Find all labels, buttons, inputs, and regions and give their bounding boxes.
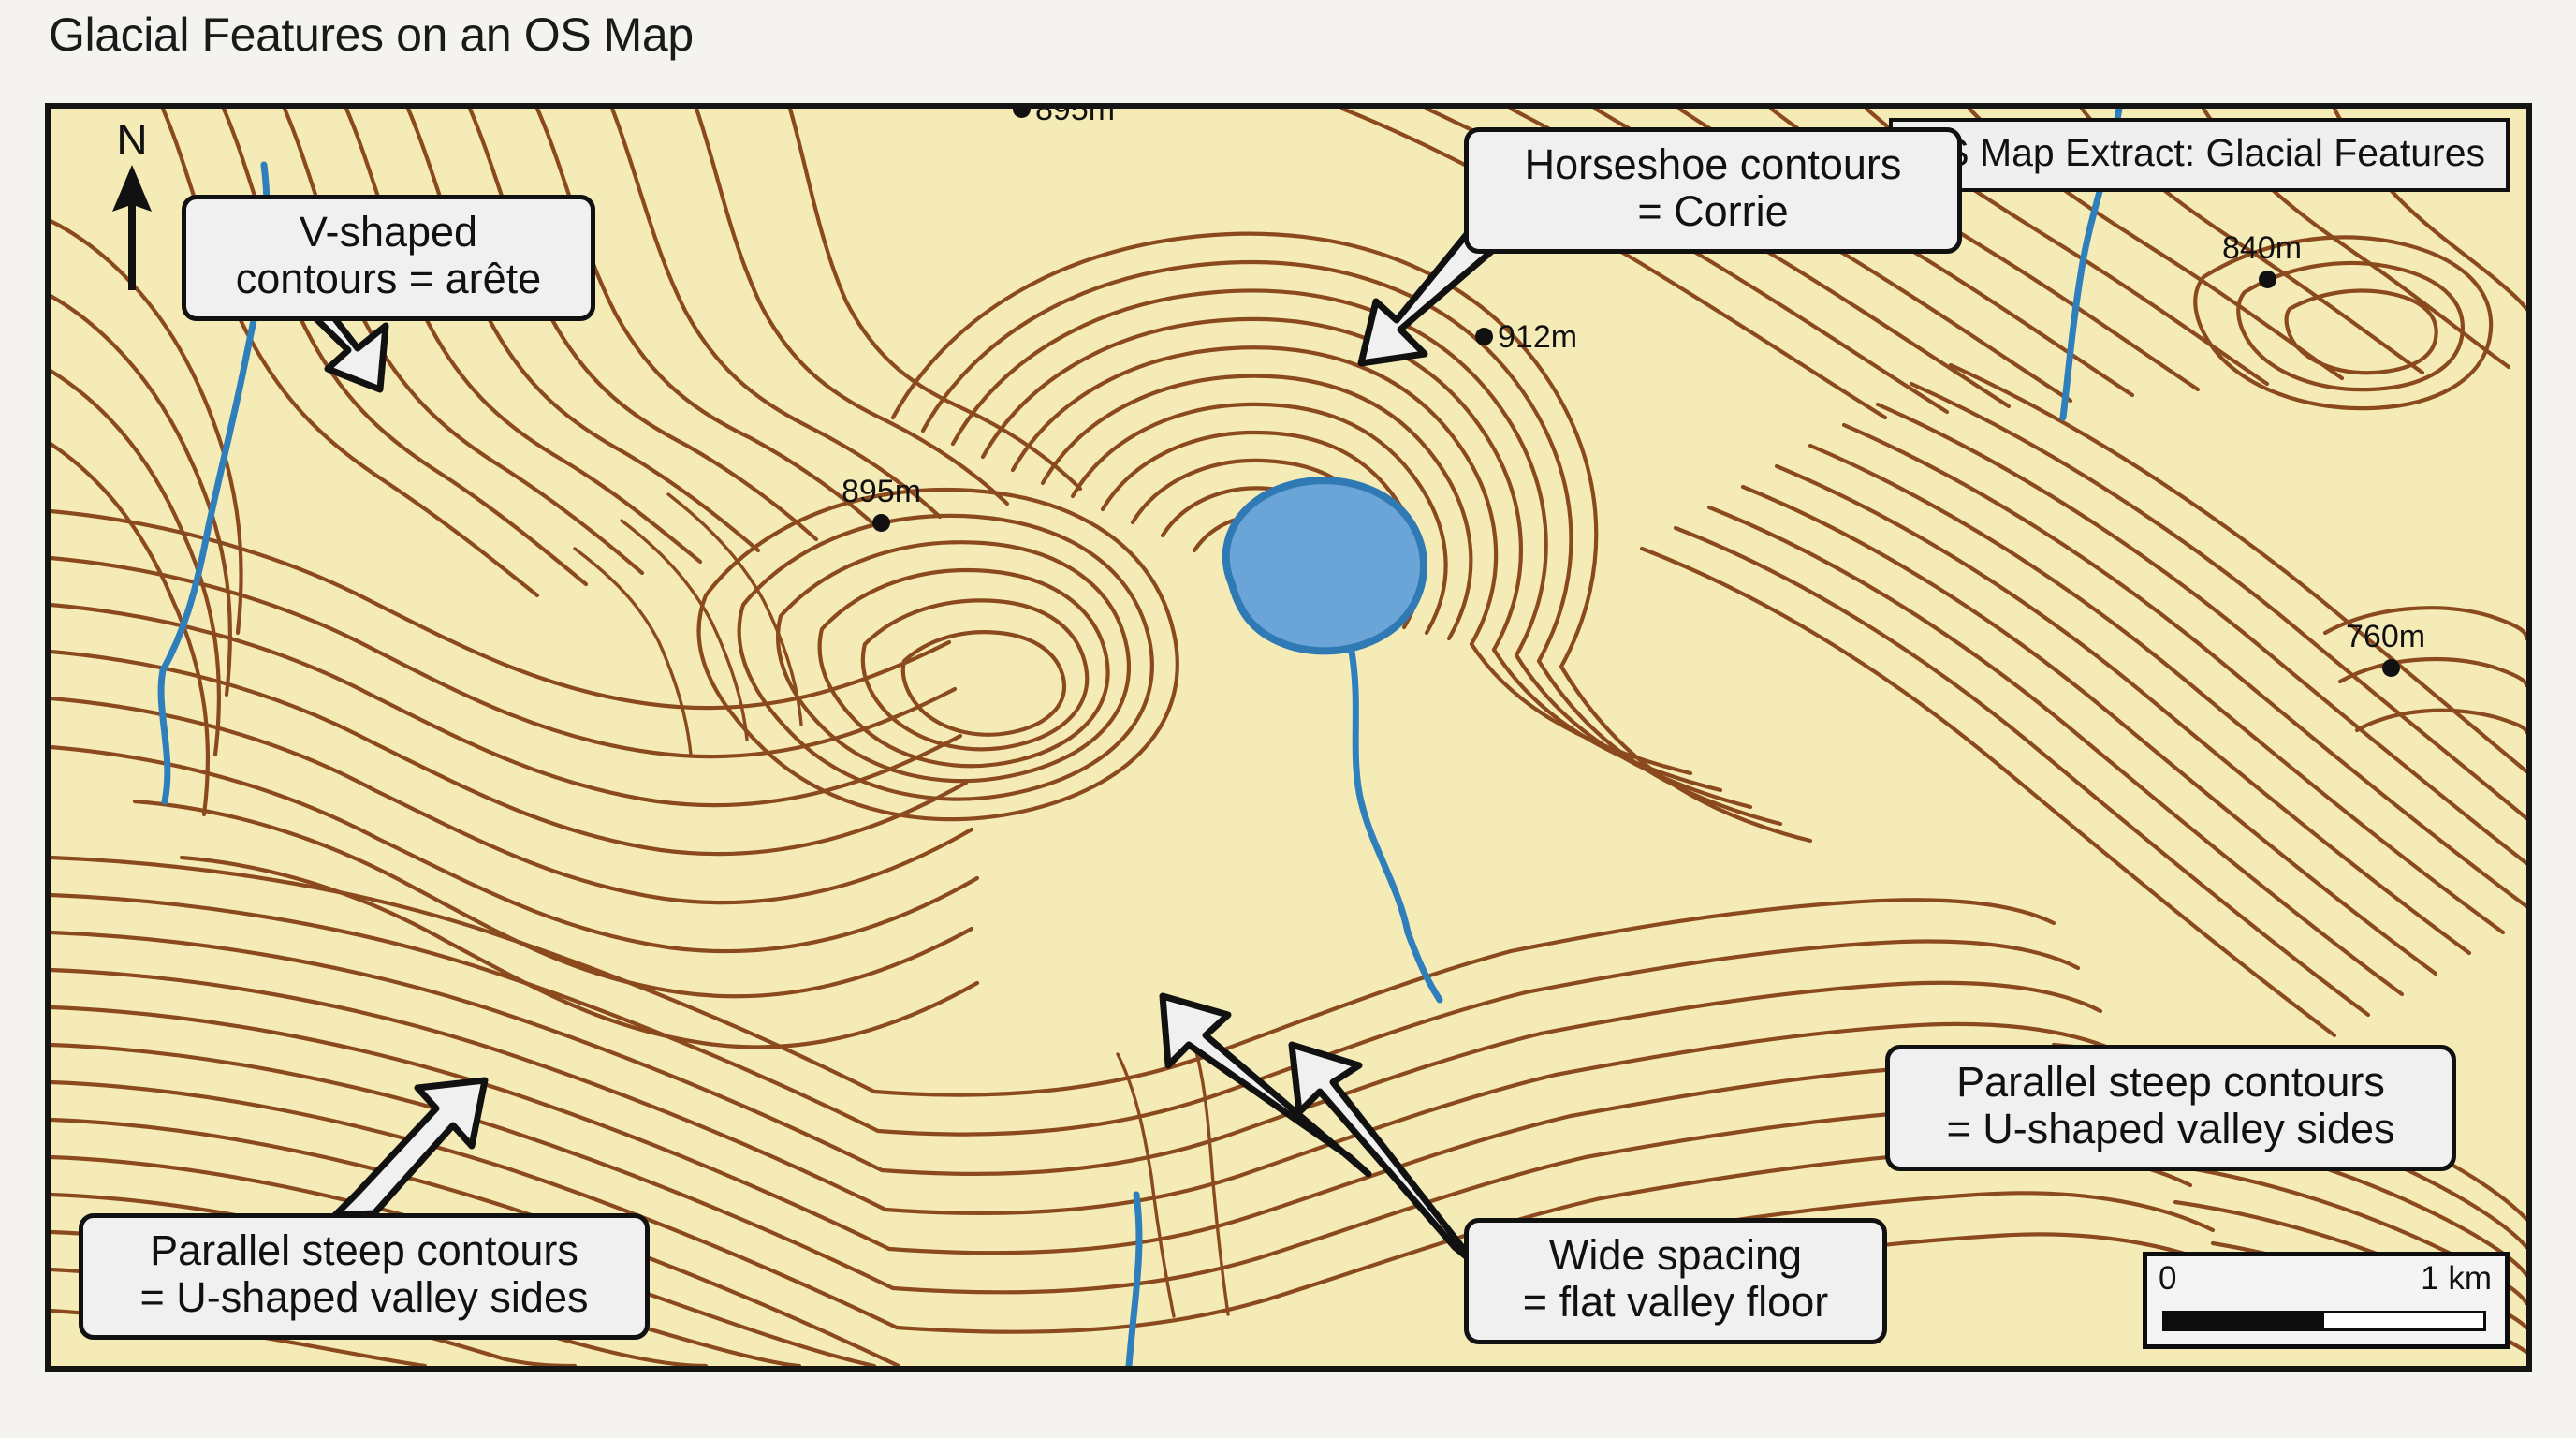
spot-height-dot	[1013, 103, 1031, 118]
contour-group-east-valley-side	[1642, 365, 2526, 1352]
north-arrow-icon: N	[99, 116, 165, 294]
callout-arete[interactable]: V-shaped contours = arête	[182, 195, 595, 321]
spot-height-label: 912m	[1498, 319, 1577, 355]
scale-bar: 0 1 km	[2143, 1252, 2510, 1349]
callout-valley-floor[interactable]: Wide spacing = flat valley floor	[1464, 1218, 1887, 1344]
north-label: N	[99, 116, 165, 163]
scale-bar-track	[2162, 1311, 2486, 1331]
scale-bar-segment-empty	[2324, 1313, 2483, 1328]
corrie-tarn	[1226, 480, 1424, 651]
spot-height-dot	[2382, 659, 2400, 677]
map-legend-title: OS Map Extract: Glacial Features	[1889, 118, 2510, 192]
spot-height-label: 840m	[2222, 230, 2302, 266]
spot-height-760: 760m	[2346, 619, 2425, 677]
scale-max-label: 1 km	[2421, 1260, 2492, 1298]
spot-height-dot	[872, 514, 890, 532]
contour-group-central-hill	[699, 490, 1178, 819]
spot-height-912: 912m	[1475, 319, 1577, 356]
callout-u-valley-right[interactable]: Parallel steep contours = U-shaped valle…	[1885, 1045, 2456, 1171]
spot-height-895-north: 895m	[1013, 103, 1115, 128]
spot-height-895-central: 895m	[842, 474, 921, 532]
scale-bar-segment-filled	[2165, 1313, 2324, 1328]
spot-height-dot	[2259, 271, 2276, 288]
spot-height-dot	[1475, 328, 1493, 345]
spot-height-label: 895m	[1035, 103, 1115, 127]
callout-u-valley-left[interactable]: Parallel steep contours = U-shaped valle…	[79, 1213, 650, 1340]
map-extract-frame: .c{fill:none;stroke:#8b4a1e;stroke-width…	[45, 103, 2532, 1372]
spot-height-label: 895m	[842, 474, 921, 509]
page-title: Glacial Features on an OS Map	[49, 7, 694, 62]
callout-corrie[interactable]: Horseshoe contours = Corrie	[1464, 127, 1962, 254]
spot-height-label: 760m	[2346, 619, 2425, 654]
scale-min-label: 0	[2159, 1260, 2176, 1298]
spot-height-840: 840m	[2222, 230, 2302, 288]
